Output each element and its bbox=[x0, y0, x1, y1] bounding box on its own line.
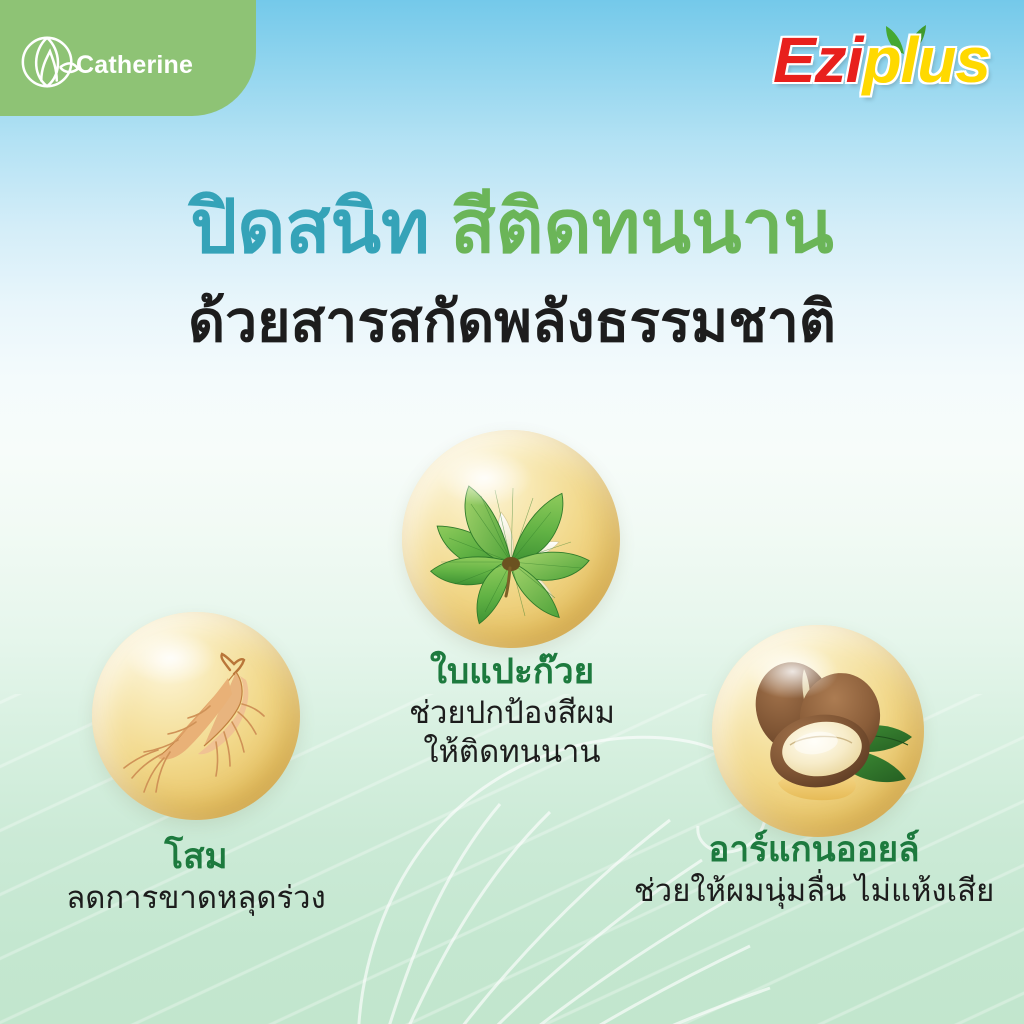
ingredient-bubble-ginkgo bbox=[402, 430, 620, 648]
headline-segment-1: ปิดสนิท bbox=[190, 185, 430, 268]
argan-nut-icon bbox=[712, 625, 924, 837]
eziplus-logo-plus: plus bbox=[862, 24, 990, 96]
ginseng-root-icon bbox=[92, 612, 300, 820]
ingredient-title-ginseng: โสม bbox=[0, 835, 392, 879]
caption-ginkgo: ใบแปะก๊วย ช่วยปกป้องสีผม ให้ติดทนนาน bbox=[372, 650, 652, 771]
brand-name: Catherine bbox=[76, 51, 193, 80]
brand-panel: Catherine bbox=[0, 0, 256, 116]
ingredient-bubble-argan bbox=[712, 625, 924, 837]
ingredient-title-ginkgo: ใบแปะก๊วย bbox=[372, 650, 652, 694]
headline-segment-2: สีติดทนนาน bbox=[450, 185, 833, 268]
caption-argan: อาร์แกนออยล์ ช่วยให้ผมนุ่มลื่น ไม่แห้งเส… bbox=[604, 828, 1024, 911]
eziplus-logo-ezi: Ezi bbox=[773, 24, 862, 96]
caption-ginseng: โสม ลดการขาดหลุดร่วง bbox=[0, 835, 392, 918]
eziplus-logo: Eziplus bbox=[773, 28, 990, 92]
ingredient-desc-ginseng-1: ลดการขาดหลุดร่วง bbox=[0, 879, 392, 918]
ginkgo-leaf-icon bbox=[402, 430, 620, 648]
ingredient-desc-ginkgo-1: ช่วยปกป้องสีผม bbox=[372, 694, 652, 733]
ingredient-desc-ginkgo-2: ให้ติดทนนาน bbox=[372, 733, 652, 772]
ingredient-desc-argan-1: ช่วยให้ผมนุ่มลื่น ไม่แห้งเสีย bbox=[604, 872, 1024, 911]
catherine-monogram-icon bbox=[18, 32, 80, 94]
subheadline: ด้วยสารสกัดพลังธรรมชาติ bbox=[0, 288, 1024, 356]
ingredient-title-argan: อาร์แกนออยล์ bbox=[604, 828, 1024, 872]
promo-poster: Catherine Eziplus ปิดสนิท สีติดทนนาน ด้ว… bbox=[0, 0, 1024, 1024]
headline: ปิดสนิท สีติดทนนาน bbox=[0, 186, 1024, 269]
ingredient-bubble-ginseng bbox=[92, 612, 300, 820]
